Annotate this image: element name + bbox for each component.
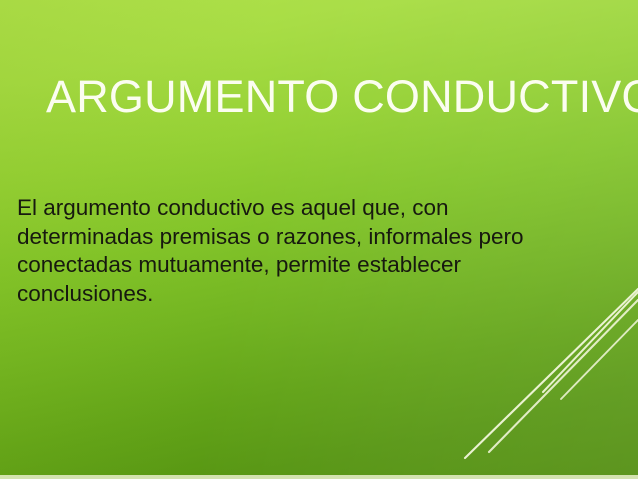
body-line: conectadas mutuamente, permite establece… — [17, 251, 592, 280]
slide-title: ARGUMENTO CONDUCTIVO — [46, 70, 638, 124]
body-line: El argumento conductivo es aquel que, co… — [17, 194, 592, 223]
body-line: conclusiones. — [17, 280, 592, 309]
slide-body-text: El argumento conductivo es aquel que, co… — [17, 194, 592, 308]
body-line: determinadas premisas o razones, informa… — [17, 223, 592, 252]
presentation-slide: ARGUMENTO CONDUCTIVO El argumento conduc… — [0, 0, 638, 479]
slide-bottom-edge — [0, 475, 638, 479]
